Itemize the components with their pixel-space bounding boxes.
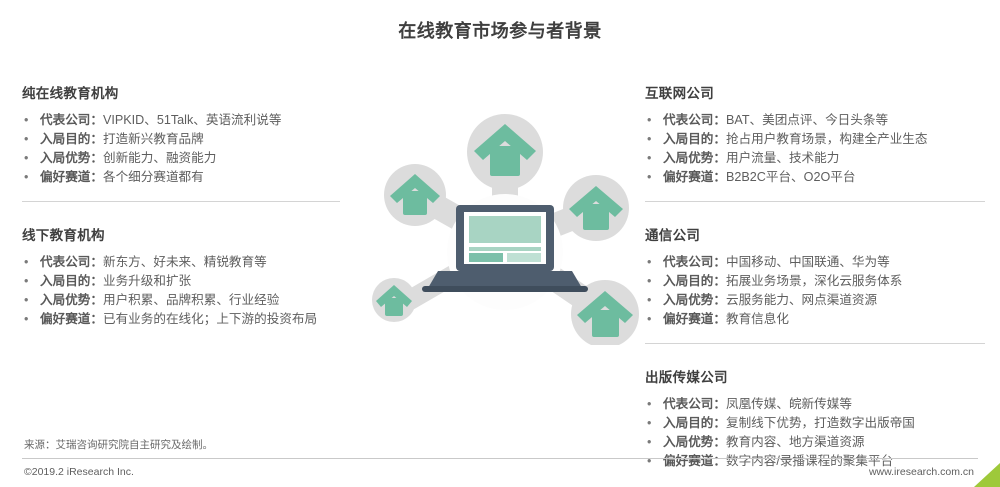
bullet-value: 业务升级和扩张 — [103, 274, 191, 288]
bullet-list: •代表公司：中国移动、中国联通、华为等 •入局目的：拓展业务场景，深化云服务体系… — [645, 253, 990, 329]
bullet-value: 复制线下优势，打造数字出版帝国 — [726, 416, 915, 430]
bullet-label: 偏好赛道： — [663, 312, 726, 326]
block-publishing-media-companies: 出版传媒公司 •代表公司：凤凰传媒、皖新传媒等 •入局目的：复制线下优势，打造数… — [645, 366, 990, 471]
bullet-label: 代表公司： — [663, 397, 726, 411]
block-heading: 互联网公司 — [645, 82, 990, 102]
bullet-list: •代表公司：VIPKID、51Talk、英语流利说等 •入局目的：打造新兴教育品… — [22, 111, 352, 187]
footer-divider — [22, 458, 978, 459]
bullet-dot-icon: • — [24, 272, 28, 291]
website-url: www.iresearch.com.cn — [869, 466, 974, 478]
bullet-label: 偏好赛道： — [663, 454, 726, 468]
copyright-text: ©2019.2 iResearch Inc. — [24, 466, 134, 478]
bullet-dot-icon: • — [24, 291, 28, 310]
bullet-value: 中国移动、中国联通、华为等 — [726, 255, 890, 269]
corner-accent-triangle — [974, 463, 1000, 487]
section-divider — [645, 343, 985, 344]
bullet-label: 偏好赛道： — [40, 312, 103, 326]
block-heading: 纯在线教育机构 — [22, 82, 352, 102]
bullet-value: 云服务能力、网点渠道资源 — [726, 293, 877, 307]
bullet-label: 入局目的： — [663, 132, 726, 146]
bullet-label: 代表公司： — [663, 255, 726, 269]
block-offline-education: 线下教育机构 •代表公司：新东方、好未来、精锐教育等 •入局目的：业务升级和扩张… — [22, 224, 352, 329]
bullet-dot-icon: • — [647, 414, 651, 433]
bullet-label: 入局优势： — [663, 293, 726, 307]
list-item: •偏好赛道：教育信息化 — [645, 310, 990, 329]
network-laptop-diagram — [360, 100, 650, 345]
block-pure-online-education: 纯在线教育机构 •代表公司：VIPKID、51Talk、英语流利说等 •入局目的… — [22, 82, 352, 202]
left-column: 纯在线教育机构 •代表公司：VIPKID、51Talk、英语流利说等 •入局目的… — [22, 82, 352, 329]
bullet-value: 教育内容、地方渠道资源 — [726, 435, 865, 449]
list-item: •代表公司：凤凰传媒、皖新传媒等 — [645, 395, 990, 414]
bullet-dot-icon: • — [24, 310, 28, 329]
bullet-list: •代表公司：BAT、美团点评、今日头条等 •入局目的：抢占用户教育场景，构建全产… — [645, 111, 990, 187]
list-item: •入局优势：云服务能力、网点渠道资源 — [645, 291, 990, 310]
bullet-dot-icon: • — [24, 130, 28, 149]
bullet-dot-icon: • — [647, 433, 651, 452]
bullet-dot-icon: • — [647, 395, 651, 414]
block-telecom-companies: 通信公司 •代表公司：中国移动、中国联通、华为等 •入局目的：拓展业务场景，深化… — [645, 224, 990, 344]
bullet-label: 代表公司： — [663, 113, 726, 127]
list-item: •入局目的：复制线下优势，打造数字出版帝国 — [645, 414, 990, 433]
bullet-label: 入局优势： — [40, 293, 103, 307]
list-item: •代表公司：新东方、好未来、精锐教育等 — [22, 253, 352, 272]
list-item: •入局目的：业务升级和扩张 — [22, 272, 352, 291]
list-item: •入局优势：教育内容、地方渠道资源 — [645, 433, 990, 452]
bullet-dot-icon: • — [24, 149, 28, 168]
bullet-value: 创新能力、融资能力 — [103, 151, 216, 165]
bullet-value: 教育信息化 — [726, 312, 789, 326]
spacer — [645, 344, 990, 366]
bullet-dot-icon: • — [24, 253, 28, 272]
bullet-value: 用户积累、品牌积累、行业经验 — [103, 293, 279, 307]
list-item: •入局目的：打造新兴教育品牌 — [22, 130, 352, 149]
bullet-value: B2B2C平台、O2O平台 — [726, 170, 855, 184]
bullet-label: 入局优势： — [663, 435, 726, 449]
section-divider — [22, 201, 340, 202]
list-item: •偏好赛道：B2B2C平台、O2O平台 — [645, 168, 990, 187]
block-heading: 出版传媒公司 — [645, 366, 990, 386]
bullet-label: 代表公司： — [40, 113, 103, 127]
right-column: 互联网公司 •代表公司：BAT、美团点评、今日头条等 •入局目的：抢占用户教育场… — [645, 82, 990, 471]
bullet-dot-icon: • — [647, 452, 651, 471]
bullet-value: 用户流量、技术能力 — [726, 151, 839, 165]
source-note: 来源：艾瑞咨询研究院自主研究及绘制。 — [24, 437, 213, 452]
bullet-label: 入局目的： — [663, 274, 726, 288]
bullet-label: 入局优势： — [663, 151, 726, 165]
bullet-label: 入局目的： — [40, 274, 103, 288]
bullet-label: 代表公司： — [40, 255, 103, 269]
bullet-dot-icon: • — [24, 168, 28, 187]
bullet-value: 已有业务的在线化；上下游的投资布局 — [103, 312, 317, 326]
list-item: •入局目的：拓展业务场景，深化云服务体系 — [645, 272, 990, 291]
bullet-value: BAT、美团点评、今日头条等 — [726, 113, 888, 127]
bullet-value: 打造新兴教育品牌 — [103, 132, 204, 146]
bullet-value: 新东方、好未来、精锐教育等 — [103, 255, 267, 269]
block-internet-companies: 互联网公司 •代表公司：BAT、美团点评、今日头条等 •入局目的：抢占用户教育场… — [645, 82, 990, 202]
bullet-value: 拓展业务场景，深化云服务体系 — [726, 274, 902, 288]
bullet-value: 凤凰传媒、皖新传媒等 — [726, 397, 852, 411]
block-heading: 线下教育机构 — [22, 224, 352, 244]
bullet-label: 入局目的： — [663, 416, 726, 430]
bullet-dot-icon: • — [24, 111, 28, 130]
bullet-label: 入局优势： — [40, 151, 103, 165]
list-item: •代表公司：BAT、美团点评、今日头条等 — [645, 111, 990, 130]
list-item: •偏好赛道：各个细分赛道都有 — [22, 168, 352, 187]
page-title: 在线教育市场参与者背景 — [0, 17, 1000, 43]
bullet-value: 各个细分赛道都有 — [103, 170, 204, 184]
list-item: •入局优势：用户积累、品牌积累、行业经验 — [22, 291, 352, 310]
bullet-list: •代表公司：新东方、好未来、精锐教育等 •入局目的：业务升级和扩张 •入局优势：… — [22, 253, 352, 329]
section-divider — [645, 201, 985, 202]
list-item: •入局优势：用户流量、技术能力 — [645, 149, 990, 168]
list-item: •代表公司：VIPKID、51Talk、英语流利说等 — [22, 111, 352, 130]
bullet-value: VIPKID、51Talk、英语流利说等 — [103, 113, 281, 127]
spacer — [22, 202, 352, 224]
block-heading: 通信公司 — [645, 224, 990, 244]
list-item: •入局目的：抢占用户教育场景，构建全产业生态 — [645, 130, 990, 149]
spacer — [645, 202, 990, 224]
bullet-list: •代表公司：凤凰传媒、皖新传媒等 •入局目的：复制线下优势，打造数字出版帝国 •… — [645, 395, 990, 471]
list-item: •代表公司：中国移动、中国联通、华为等 — [645, 253, 990, 272]
bullet-label: 偏好赛道： — [663, 170, 726, 184]
bullet-value: 抢占用户教育场景，构建全产业生态 — [726, 132, 928, 146]
bullet-label: 偏好赛道： — [40, 170, 103, 184]
bullet-label: 入局目的： — [40, 132, 103, 146]
list-item: •偏好赛道：已有业务的在线化；上下游的投资布局 — [22, 310, 352, 329]
list-item: •入局优势：创新能力、融资能力 — [22, 149, 352, 168]
